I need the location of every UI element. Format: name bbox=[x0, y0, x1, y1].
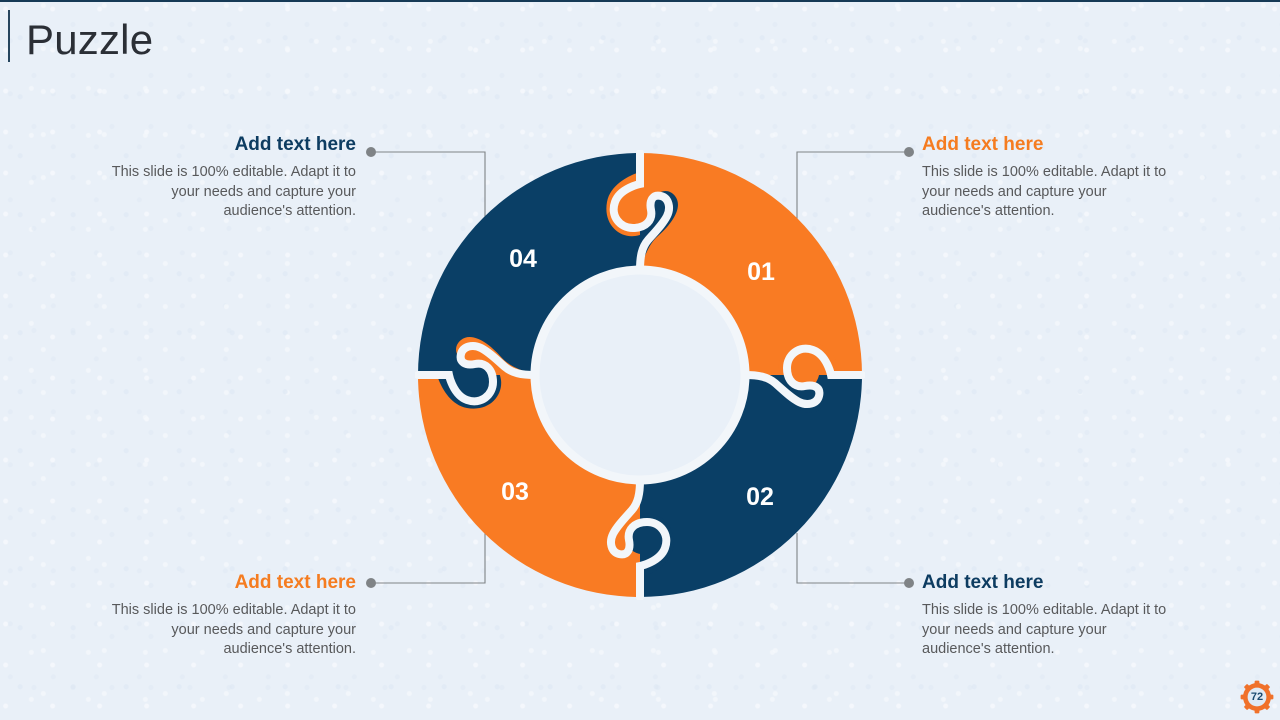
connector-dot-bottom-left bbox=[366, 578, 376, 588]
puzzle-inner-hole bbox=[539, 274, 741, 476]
puzzle-number-04: 04 bbox=[509, 245, 537, 273]
puzzle-donut-diagram: 01 02 03 04 bbox=[415, 150, 865, 600]
connector-dot-bottom-right bbox=[904, 578, 914, 588]
callout-bottom-right: Add text here This slide is 100% editabl… bbox=[922, 571, 1172, 660]
callout-top-left-body: This slide is 100% editable. Adapt it to… bbox=[106, 163, 356, 222]
puzzle-number-01: 01 bbox=[747, 258, 775, 286]
connector-dot-top-right bbox=[904, 147, 914, 157]
callout-bottom-left-body: This slide is 100% editable. Adapt it to… bbox=[106, 601, 356, 660]
puzzle-pieces-group bbox=[418, 153, 862, 597]
callout-bottom-right-body: This slide is 100% editable. Adapt it to… bbox=[922, 601, 1172, 660]
connector-dot-top-left bbox=[366, 147, 376, 157]
page-title: Puzzle bbox=[26, 14, 153, 66]
puzzle-number-02: 02 bbox=[746, 483, 774, 511]
callout-top-right-body: This slide is 100% editable. Adapt it to… bbox=[922, 163, 1172, 222]
puzzle-number-03: 03 bbox=[501, 478, 529, 506]
slide-top-rule bbox=[0, 0, 1280, 2]
callout-top-right-title: Add text here bbox=[922, 133, 1172, 157]
callout-top-right: Add text here This slide is 100% editabl… bbox=[922, 133, 1172, 222]
callout-bottom-right-title: Add text here bbox=[922, 571, 1172, 595]
callout-top-left: Add text here This slide is 100% editabl… bbox=[106, 133, 356, 222]
callout-bottom-left-title: Add text here bbox=[106, 571, 356, 595]
callout-bottom-left: Add text here This slide is 100% editabl… bbox=[106, 571, 356, 660]
gear-badge-number: 72 bbox=[1240, 680, 1274, 714]
title-accent-bar bbox=[8, 10, 10, 62]
callout-top-left-title: Add text here bbox=[106, 133, 356, 157]
